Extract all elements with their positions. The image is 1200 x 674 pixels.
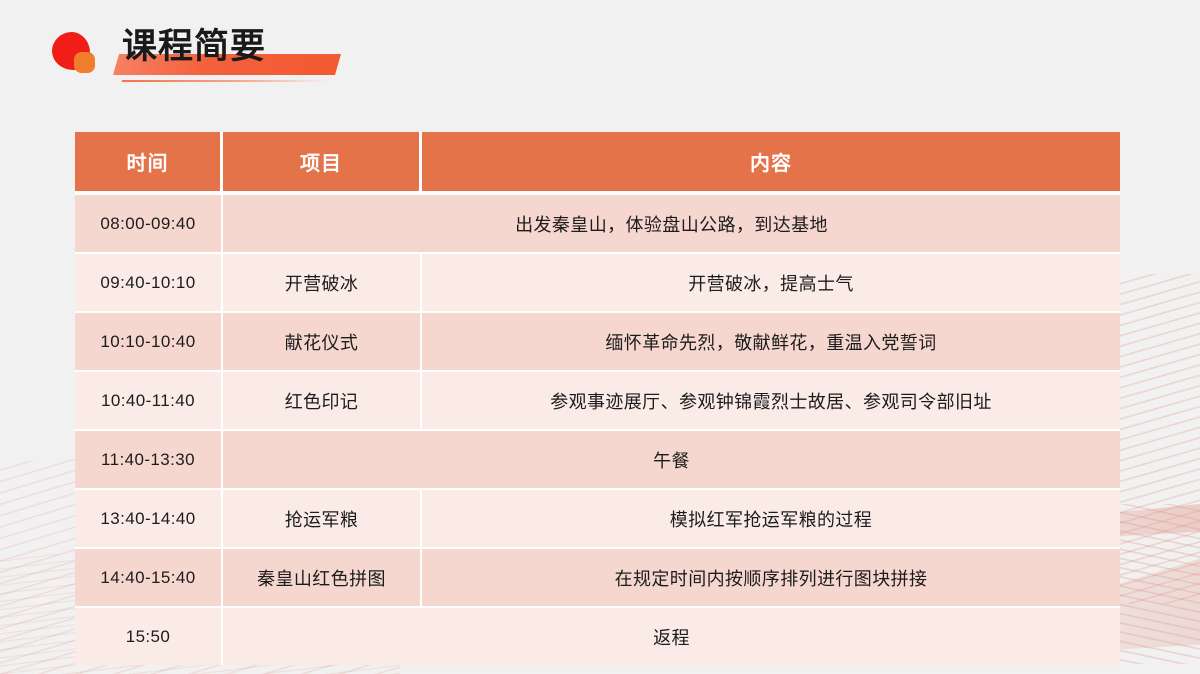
column-header-time: 时间 [75,132,223,195]
column-header-content: 内容 [422,132,1120,195]
cell-time: 10:10-10:40 [75,313,223,372]
column-header-item: 项目 [223,132,422,195]
table-header: 时间 项目 内容 [75,132,1120,195]
cell-time: 15:50 [75,608,223,665]
cell-item: 抢运军粮 [223,490,422,549]
cell-content: 在规定时间内按顺序排列进行图块拼接 [422,549,1120,608]
title-wrapper: 课程简要 [114,24,266,70]
cell-time: 11:40-13:30 [75,431,223,490]
schedule-table: 时间 项目 内容 08:00-09:40出发秦皇山，体验盘山公路，到达基地09:… [75,132,1120,665]
blob-shape-secondary [74,52,95,73]
red-blob-icon [52,32,98,78]
table-row: 14:40-15:40秦皇山红色拼图在规定时间内按顺序排列进行图块拼接 [75,549,1120,608]
table-row: 15:50返程 [75,608,1120,665]
cell-time: 14:40-15:40 [75,549,223,608]
title-underline [122,80,329,82]
table-row: 08:00-09:40出发秦皇山，体验盘山公路，到达基地 [75,195,1120,254]
table-row: 10:10-10:40献花仪式缅怀革命先烈，敬献鲜花，重温入党誓词 [75,313,1120,372]
cell-item: 献花仪式 [223,313,422,372]
table-row: 13:40-14:40抢运军粮模拟红军抢运军粮的过程 [75,490,1120,549]
cell-content-merged: 出发秦皇山，体验盘山公路，到达基地 [223,195,1120,254]
page-title: 课程简要 [114,24,266,70]
table-body: 08:00-09:40出发秦皇山，体验盘山公路，到达基地09:40-10:10开… [75,195,1120,665]
table-row: 11:40-13:30午餐 [75,431,1120,490]
cell-content: 缅怀革命先烈，敬献鲜花，重温入党誓词 [422,313,1120,372]
slide-canvas: 课程简要 时间 项目 内容 08:00-09:40出发秦皇山，体验盘山公路，到达… [0,0,1200,674]
cell-content-merged: 返程 [223,608,1120,665]
cell-content: 开营破冰，提高士气 [422,254,1120,313]
cell-content: 模拟红军抢运军粮的过程 [422,490,1120,549]
cell-item: 秦皇山红色拼图 [223,549,422,608]
cell-content: 参观事迹展厅、参观钟锦霞烈士故居、参观司令部旧址 [422,372,1120,431]
cell-time: 08:00-09:40 [75,195,223,254]
cell-item: 红色印记 [223,372,422,431]
table-header-row: 时间 项目 内容 [75,132,1120,195]
cell-content-merged: 午餐 [223,431,1120,490]
table-row: 10:40-11:40红色印记参观事迹展厅、参观钟锦霞烈士故居、参观司令部旧址 [75,372,1120,431]
cell-item: 开营破冰 [223,254,422,313]
table-row: 09:40-10:10开营破冰开营破冰，提高士气 [75,254,1120,313]
cell-time: 09:40-10:10 [75,254,223,313]
cell-time: 10:40-11:40 [75,372,223,431]
cell-time: 13:40-14:40 [75,490,223,549]
